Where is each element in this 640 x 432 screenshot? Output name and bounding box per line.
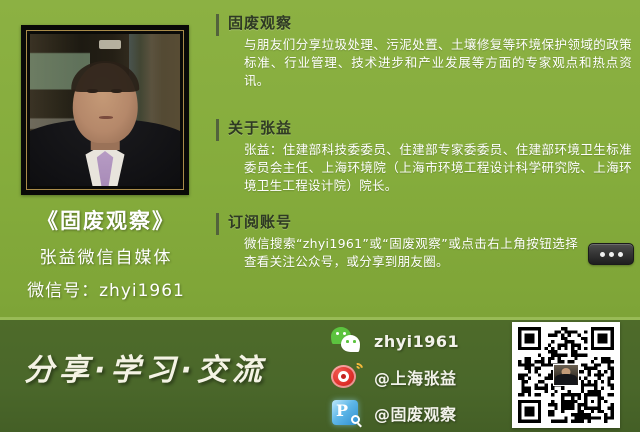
social-label-wechat: zhyi1961 [374,332,459,351]
portrait-inner-border [26,30,184,190]
brand-title: 《固废观察》 [0,205,212,235]
wechat-promo-card: 《固废观察》 张益微信自媒体 微信号：zhyi1961 固废观察 与朋友们分享垃… [0,0,640,432]
section-heading-3: 订阅账号 [212,213,640,235]
dot-icon [336,332,339,335]
dot-icon [346,340,349,343]
heading-accent-bar [216,213,219,235]
brand-wechat-id: 微信号：zhyi1961 [0,276,212,301]
portrait-frame [21,25,189,195]
weibo-icon [330,362,364,392]
magnifier-handle-icon [357,423,362,428]
section-heading-3-text: 订阅账号 [228,213,292,231]
social-row-wechat[interactable]: zhyi1961 [330,323,505,359]
section-body-2: 张益：住建部科技委委员、住建部专家委委员、住建部环境卫生标准委员会主任、上海环境… [212,141,640,195]
social-account-list: zhyi1961 @上海张益 P @固废观察 [330,323,505,431]
portrait-photo [30,34,180,186]
section-subscribe: 订阅账号 微信搜索“zhyi1961”或“固废观察”或点击右上角按钮选择查看关注… [212,213,640,271]
bubble-front [341,335,360,352]
weibo-pupil [341,374,346,379]
heading-accent-bar [216,14,219,36]
section-about-account: 固废观察 与朋友们分享垃圾处理、污泥处置、土壤修复等环境保护领域的政策标准、行业… [212,14,640,90]
qr-code-canvas [517,327,615,423]
qr-center-avatar [553,364,579,386]
section-heading-1-text: 固废观察 [228,14,292,32]
photo-mouth [99,116,113,119]
letter-p-glyph: P [336,403,348,419]
section-heading-1: 固废观察 [212,14,640,36]
brand-subtitle: 张益微信自媒体 [0,243,212,268]
photo-eye-left [87,89,98,93]
tencent-weibo-icon: P [330,398,364,428]
dot-icon [609,252,614,257]
more-options-button[interactable] [588,243,634,265]
social-row-tencent-weibo[interactable]: P @固废观察 [330,395,505,431]
photo-light-highlight [99,40,121,49]
section-body-3: 微信搜索“zhyi1961”或“固废观察”或点击右上角按钮选择查看关注公众号，或… [212,235,640,271]
section-body-1: 与朋友们分享垃圾处理、污泥处置、土壤修复等环境保护领域的政策标准、行业管理、技术… [212,36,640,90]
section-about-author: 关于张益 张益：住建部科技委委员、住建部专家委委员、住建部环境卫生标准委员会主任… [212,119,640,195]
left-column: 《固废观察》 张益微信自媒体 微信号：zhyi1961 [0,0,212,318]
qr-code[interactable] [512,322,620,428]
wechat-icon [330,326,364,356]
dot-icon [618,252,623,257]
avatar-shoulders [555,374,577,385]
social-label-tencent-weibo: @固废观察 [374,401,457,425]
dot-icon [353,340,356,343]
dot-icon [600,252,605,257]
slogan: 分享·学习·交流 [24,345,324,389]
section-heading-2: 关于张益 [212,119,640,141]
heading-accent-bar [216,119,219,141]
photo-eye-right [111,89,122,93]
social-row-weibo[interactable]: @上海张益 [330,359,505,395]
right-column: 固废观察 与朋友们分享垃圾处理、污泥处置、土壤修复等环境保护领域的政策标准、行业… [212,0,640,318]
section-heading-2-text: 关于张益 [228,119,292,137]
social-label-weibo: @上海张益 [374,365,457,389]
dot-icon [343,332,346,335]
